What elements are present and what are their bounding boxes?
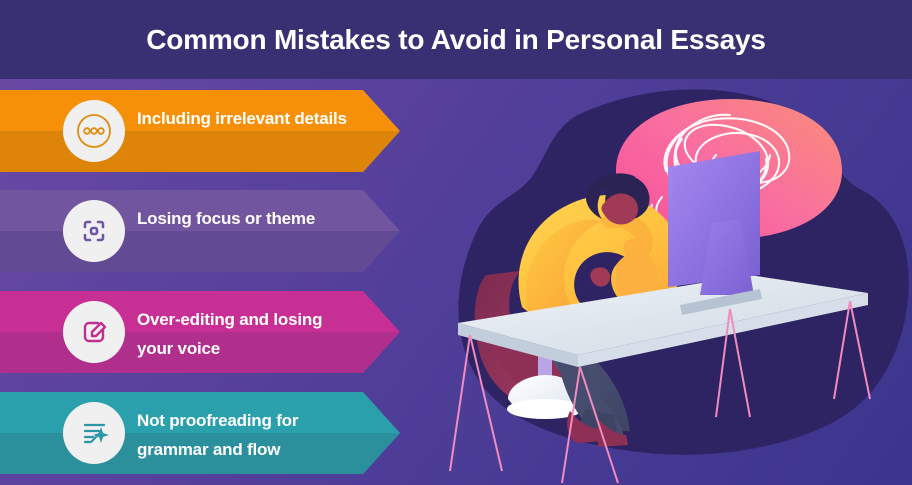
proofread-sparkle-icon [63,402,125,464]
mistake-label-1: Including irrelevant details [137,104,352,133]
focus-target-icon [63,200,125,262]
mistake-banner-2[interactable]: Losing focus or theme [0,190,400,272]
mistake-label-2: Losing focus or theme [137,204,352,233]
edit-pencil-icon [63,301,125,363]
mistake-banner-1[interactable]: Including irrelevant details [0,90,400,172]
mistake-banner-4[interactable]: Not proofreading for grammar and flow [0,392,400,474]
mistake-label-4: Not proofreading for grammar and flow [137,406,352,464]
mistake-banner-3[interactable]: Over-editing and losing your voice [0,291,400,373]
ellipsis-circle-icon [63,100,125,162]
mistake-label-3: Over-editing and losing your voice [137,305,352,363]
frustrated-person-at-desk-illustration [430,79,912,485]
page-title: Common Mistakes to Avoid in Personal Ess… [0,0,912,79]
infographic-canvas: Common Mistakes to Avoid in Personal Ess… [0,0,912,485]
